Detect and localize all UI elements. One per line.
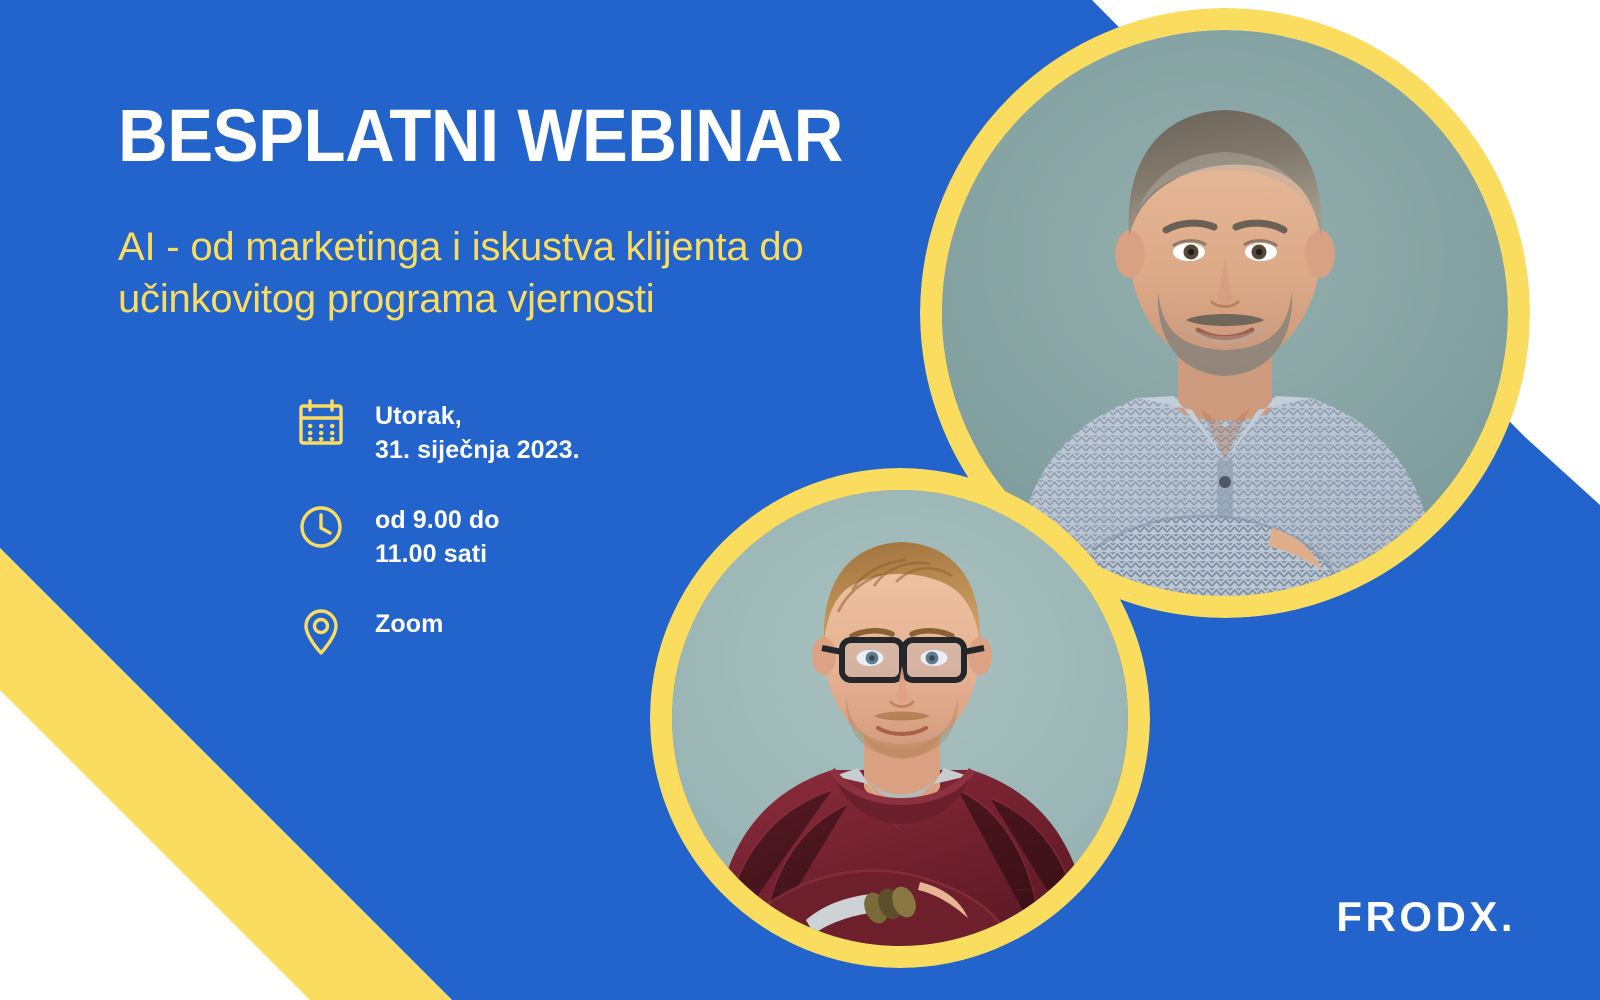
calendar-icon bbox=[295, 398, 347, 450]
frodx-logo: FRODX. bbox=[1336, 896, 1516, 938]
detail-text-time: od 9.00 do 11.00 sati bbox=[375, 502, 500, 571]
detail-row-time: od 9.00 do 11.00 sati bbox=[295, 502, 580, 576]
speaker-two-illustration bbox=[672, 490, 1128, 946]
webinar-banner: BESPLATNI WEBINAR AI - od marketinga i i… bbox=[0, 0, 1600, 1000]
event-details-list: Utorak, 31. siječnja 2023. od 9.00 do 11… bbox=[295, 398, 580, 680]
detail-text-date: Utorak, 31. siječnja 2023. bbox=[375, 398, 580, 467]
speaker-two-photo bbox=[672, 490, 1128, 946]
speaker-two-portrait bbox=[650, 468, 1150, 968]
subtitle: AI - od marketinga i iskustva klijenta d… bbox=[118, 221, 818, 327]
detail-row-date: Utorak, 31. siječnja 2023. bbox=[295, 398, 580, 472]
page-title: BESPLATNI WEBINAR bbox=[118, 100, 871, 173]
clock-icon bbox=[295, 502, 347, 554]
detail-text-location: Zoom bbox=[375, 606, 443, 642]
headline-block: BESPLATNI WEBINAR AI - od marketinga i i… bbox=[118, 100, 928, 326]
detail-row-location: Zoom bbox=[295, 606, 580, 680]
location-pin-icon bbox=[295, 606, 347, 658]
